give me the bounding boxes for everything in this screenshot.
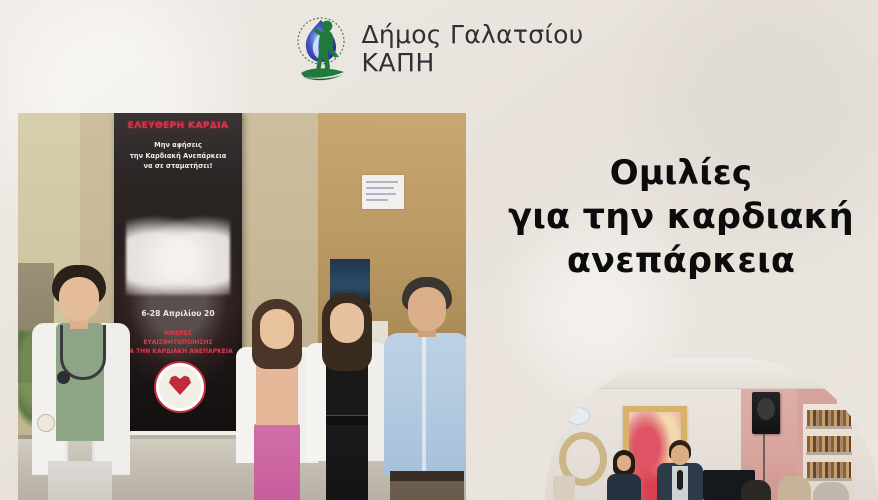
audience-head bbox=[777, 476, 811, 500]
header-logo-block: Δήμος Γαλατσίου ΚΑΠΗ bbox=[0, 4, 878, 92]
title-line-1: Ομιλίες bbox=[484, 152, 878, 195]
face bbox=[408, 287, 446, 331]
audience-head bbox=[741, 480, 771, 500]
black-trousers bbox=[326, 423, 368, 500]
face bbox=[330, 303, 364, 343]
decorative-plate-icon bbox=[567, 408, 589, 424]
banner-subtitle: Μην αφήσεις την Καρδιακή Ανεπάρκεια να σ… bbox=[121, 140, 235, 172]
stethoscope-bell-icon bbox=[57, 371, 70, 384]
municipality-name: Δήμος Γαλατσίου bbox=[361, 21, 583, 48]
department-name: ΚΑΠΗ bbox=[361, 49, 583, 76]
logo-text-block: Δήμος Γαλατσίου ΚΑΠΗ bbox=[361, 21, 583, 76]
page-title: Ομιλίες για την καρδιακή ανεπάρκεια bbox=[484, 152, 878, 283]
shirt-placket bbox=[422, 335, 426, 473]
face bbox=[260, 309, 294, 349]
poster-canvas: Δήμος Γαλατσίου ΚΑΠΗ Ομιλίες για την καρ… bbox=[0, 0, 878, 500]
audience-head bbox=[813, 482, 849, 500]
attendee-woman bbox=[607, 450, 641, 500]
galatsi-kapi-logo-icon bbox=[294, 11, 352, 85]
pink-trousers bbox=[254, 423, 300, 500]
notice-sheet bbox=[362, 175, 404, 209]
belt bbox=[326, 415, 368, 425]
banner-title: ΕΛΕΥΘΕΡΗ ΚΑΡΔΙΑ bbox=[114, 121, 242, 131]
legs bbox=[48, 461, 112, 500]
title-line-3: ανεπάρκεια bbox=[484, 239, 878, 283]
wall-speaker-icon bbox=[752, 392, 780, 434]
ceiling bbox=[565, 358, 825, 389]
main-photo: ΕΛΕΥΘΕΡΗ ΚΑΡΔΙΑ Μην αφήσεις την Καρδιακή… bbox=[18, 113, 466, 500]
hospital-badge bbox=[38, 415, 54, 431]
title-line-2: για την καρδιακή bbox=[484, 195, 878, 239]
speaker-person bbox=[657, 440, 703, 500]
speaker-cable bbox=[763, 434, 765, 486]
face bbox=[59, 277, 99, 321]
banner-heart-clouds bbox=[126, 209, 230, 295]
banner-subtitle-line-3: να σε σταματήσει! bbox=[121, 161, 235, 172]
trousers bbox=[390, 479, 464, 500]
microphone-icon bbox=[677, 470, 683, 490]
person-man-blue-shirt bbox=[378, 277, 466, 500]
belt bbox=[390, 471, 464, 481]
secondary-photo-arch bbox=[545, 358, 878, 500]
banner-subtitle-line-2: την Καρδιακή Ανεπάρκεια bbox=[121, 151, 235, 162]
pedestal bbox=[553, 476, 575, 500]
person-doctor-white-coat bbox=[26, 265, 138, 500]
banner-subtitle-line-1: Μην αφήσεις bbox=[121, 140, 235, 151]
heart-seal-icon bbox=[154, 361, 206, 413]
